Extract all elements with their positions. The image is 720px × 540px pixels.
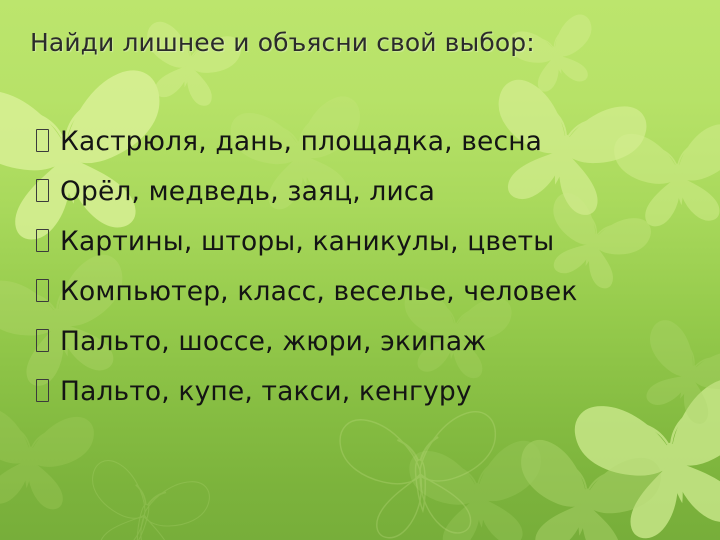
slide-title: Найди лишнее и объясни свой выбор: <box>30 26 690 60</box>
list-item: Пальто, шоссе, жюри, экипаж <box>36 326 708 376</box>
list-item-label: Компьютер, класс, веселье, человек <box>60 276 708 308</box>
list-item-label: Орёл, медведь, заяц, лиса <box>60 176 708 208</box>
list-item-label: Картины, шторы, каникулы, цветы <box>60 226 708 258</box>
bullet-box-icon <box>36 329 49 352</box>
butterfly-icon <box>507 438 664 540</box>
butterfly-outline-icon <box>75 457 213 540</box>
bullet-box-icon <box>36 129 49 152</box>
word-group-list: Кастрюля, дань, площадка, весна Орёл, ме… <box>36 126 708 426</box>
list-item-label: Пальто, шоссе, жюри, экипаж <box>60 326 708 358</box>
list-item-label: Пальто, купе, такси, кенгуру <box>60 376 708 408</box>
list-item-label: Кастрюля, дань, площадка, весна <box>60 126 708 158</box>
butterfly-outline-icon <box>339 410 502 540</box>
list-item: Картины, шторы, каникулы, цветы <box>36 226 708 276</box>
list-item: Орёл, медведь, заяц, лиса <box>36 176 708 226</box>
bullet-box-icon <box>36 279 49 302</box>
slide-canvas: Найди лишнее и объясни свой выбор: Кастр… <box>0 0 720 540</box>
list-item: Компьютер, класс, веселье, человек <box>36 276 708 326</box>
bullet-box-icon <box>36 379 49 402</box>
butterfly-icon <box>408 440 549 540</box>
list-item: Кастрюля, дань, площадка, весна <box>36 126 708 176</box>
bullet-box-icon <box>36 229 49 252</box>
list-item: Пальто, купе, такси, кенгуру <box>36 376 708 426</box>
bullet-box-icon <box>36 179 49 202</box>
